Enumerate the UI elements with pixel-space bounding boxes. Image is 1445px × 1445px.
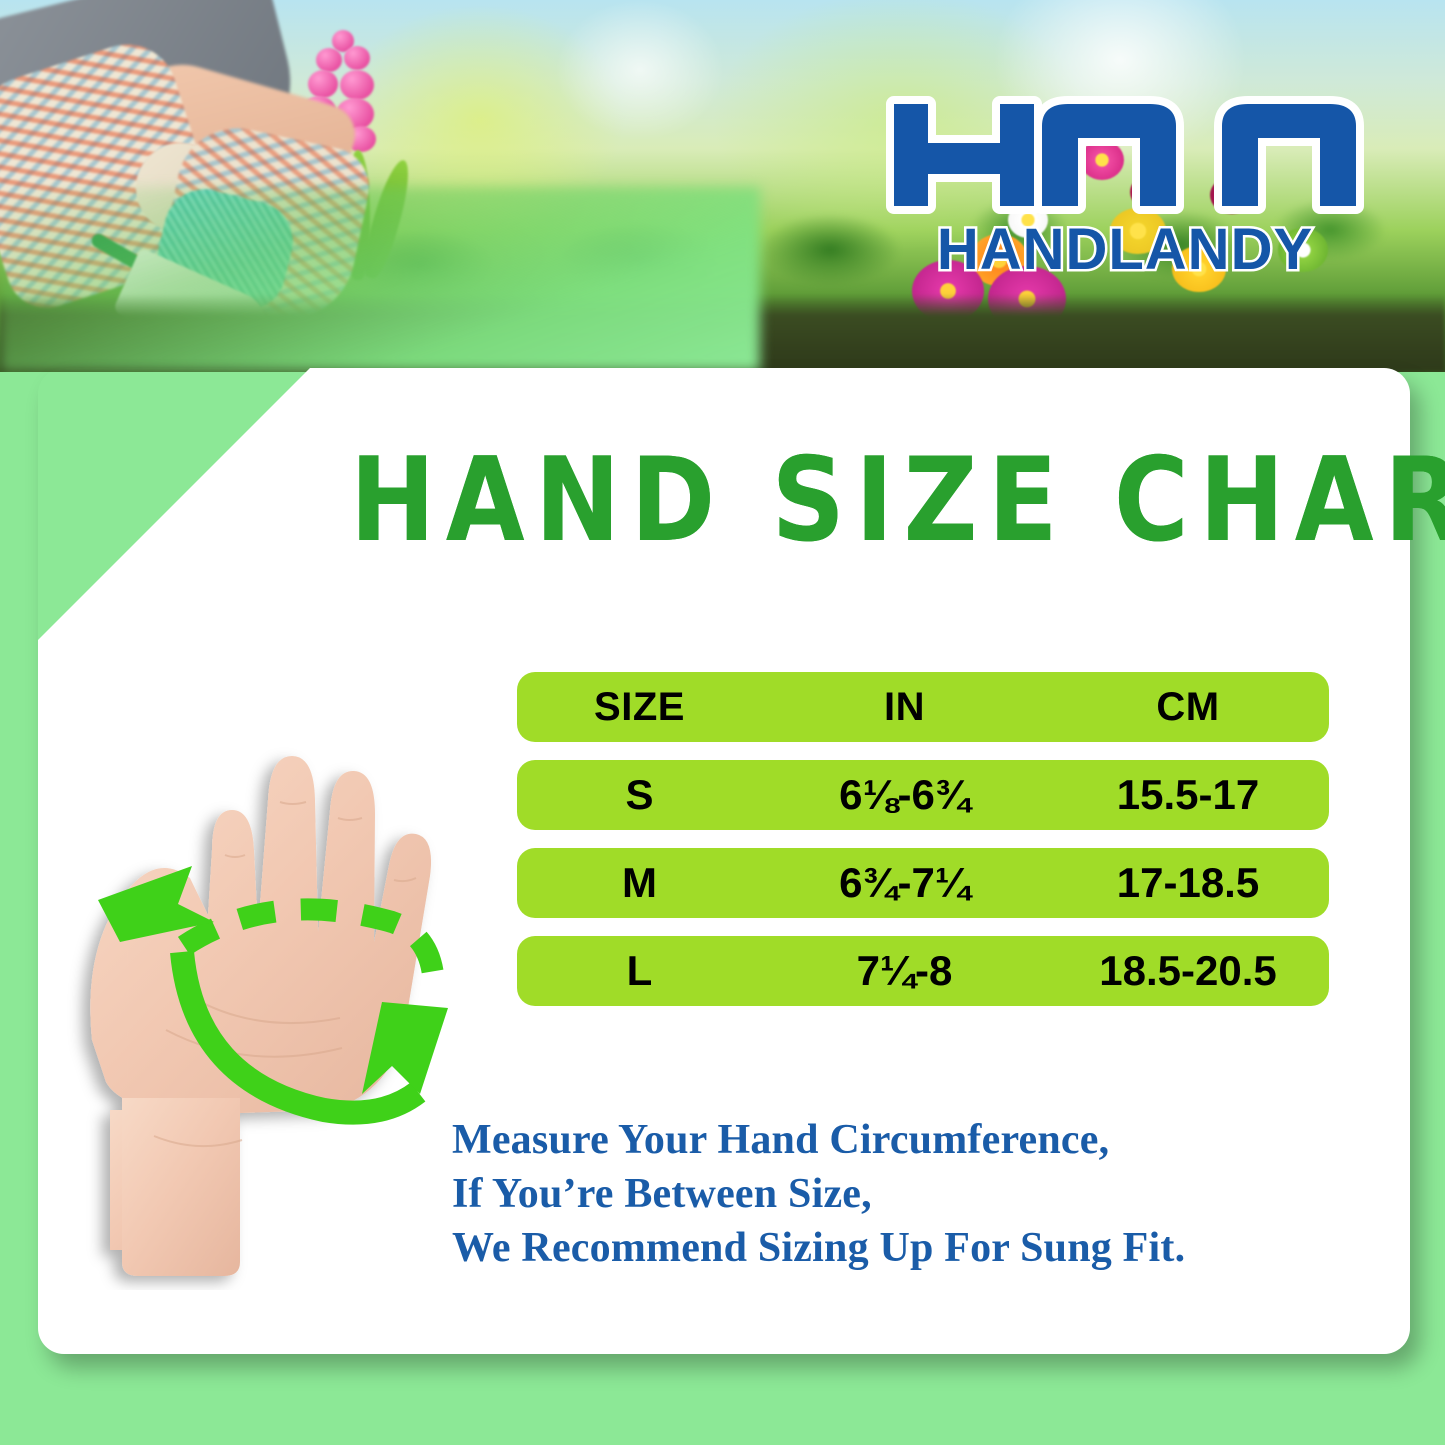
cell-in: 6¾-7¼ [762, 859, 1047, 907]
brand-logo: HANDLANDY [882, 96, 1368, 286]
table-row: M 6¾-7¼ 17-18.5 [517, 848, 1329, 918]
column-header-cm: CM [1047, 685, 1329, 730]
note-line-3: We Recommend Sizing Up For Sung Fit. [452, 1221, 1322, 1275]
sizing-note: Measure Your Hand Circumference, If You’… [452, 1113, 1322, 1275]
size-table: SIZE IN CM S 6⅛-6¾ 15.5-17 M 6¾-7¼ 17-18… [517, 672, 1329, 1006]
cell-size: M [517, 859, 762, 907]
size-chart-graphic: HANDLANDY HAND SIZE CHART [0, 0, 1445, 1445]
note-line-2: If You’re Between Size, [452, 1167, 1322, 1221]
column-header-size: SIZE [517, 685, 762, 730]
cell-cm: 15.5-17 [1047, 771, 1329, 819]
cell-size: S [517, 771, 762, 819]
cell-cm: 17-18.5 [1047, 859, 1329, 907]
page-title: HAND SIZE CHART [350, 436, 1421, 566]
cell-cm: 18.5-20.5 [1047, 947, 1329, 995]
header-banner-photo: HANDLANDY [0, 0, 1445, 372]
open-palm-photo [62, 690, 462, 1290]
note-line-1: Measure Your Hand Circumference, [452, 1113, 1322, 1167]
cell-size: L [517, 947, 762, 995]
table-row: S 6⅛-6¾ 15.5-17 [517, 760, 1329, 830]
cell-in: 7¼-8 [762, 947, 1047, 995]
cell-in: 6⅛-6¾ [762, 771, 1047, 819]
table-row: L 7¼-8 18.5-20.5 [517, 936, 1329, 1006]
column-header-in: IN [762, 685, 1047, 730]
grass-fade [0, 187, 760, 372]
hnd-monogram-icon [882, 96, 1368, 214]
table-header-row: SIZE IN CM [517, 672, 1329, 742]
brand-name: HANDLANDY [882, 214, 1368, 286]
hand-illustration [62, 690, 462, 1290]
